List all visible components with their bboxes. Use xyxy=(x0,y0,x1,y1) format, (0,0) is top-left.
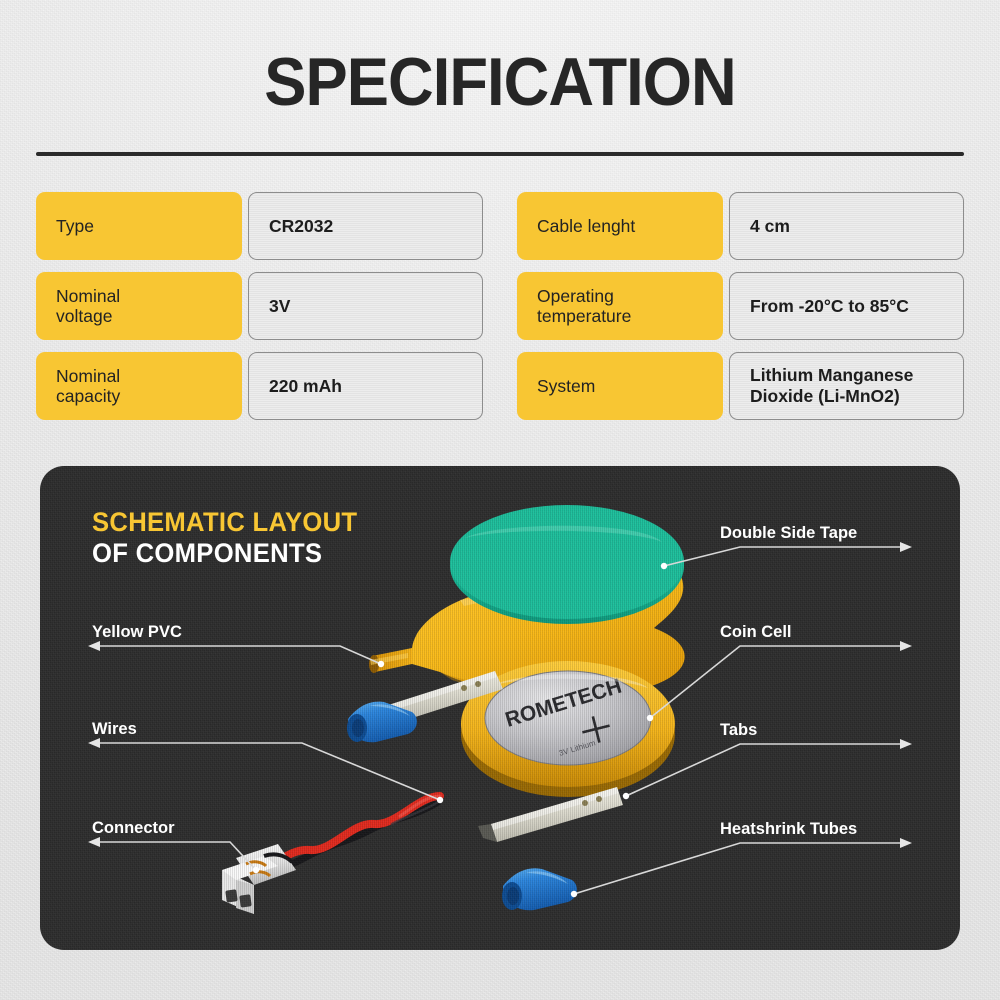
spec-label-text: Type xyxy=(56,216,94,236)
spec-value-cell: 220 mAh xyxy=(248,352,483,420)
title-divider xyxy=(36,152,964,156)
spec-column-left: Type CR2032 Nominalvoltage 3V Nominalcap… xyxy=(36,192,483,420)
schematic-heading: SCHEMATIC LAYOUT OF COMPONENTS xyxy=(92,507,357,569)
spec-label-text: Nominalvoltage xyxy=(56,286,120,326)
spec-row: Type CR2032 xyxy=(36,192,483,260)
spec-row: Nominalvoltage 3V xyxy=(36,272,483,340)
spec-value-text: From -20°C to 85°C xyxy=(750,296,909,317)
spec-value-text: Lithium ManganeseDioxide (Li-MnO2) xyxy=(750,365,913,407)
specification-table: Type CR2032 Nominalvoltage 3V Nominalcap… xyxy=(36,192,964,420)
spec-value-cell: Lithium ManganeseDioxide (Li-MnO2) xyxy=(729,352,964,420)
spec-label-cell: Nominalcapacity xyxy=(36,352,242,420)
callout-label-connector: Connector xyxy=(92,819,175,838)
spec-row: Cable lenght 4 cm xyxy=(517,192,964,260)
callout-label-tabs: Tabs xyxy=(720,721,757,740)
spec-label-text: Cable lenght xyxy=(537,216,635,236)
page-title: SPECIFICATION xyxy=(35,46,965,118)
spec-label-text: Operatingtemperature xyxy=(537,286,631,326)
spec-value-cell: From -20°C to 85°C xyxy=(729,272,964,340)
spec-column-right: Cable lenght 4 cm Operatingtemperature F… xyxy=(517,192,964,420)
spec-row: Nominalcapacity 220 mAh xyxy=(36,352,483,420)
callout-label-wires: Wires xyxy=(92,720,137,739)
spec-value-text: CR2032 xyxy=(269,216,333,237)
spec-label-cell: Operatingtemperature xyxy=(517,272,723,340)
spec-value-text: 3V xyxy=(269,296,290,317)
spec-label-text: System xyxy=(537,376,595,396)
spec-label-cell: Nominalvoltage xyxy=(36,272,242,340)
spec-label-cell: Cable lenght xyxy=(517,192,723,260)
spec-value-cell: CR2032 xyxy=(248,192,483,260)
schematic-panel: ROMETECH 3V Lithium xyxy=(40,466,960,950)
spec-value-cell: 4 cm xyxy=(729,192,964,260)
spec-row: System Lithium ManganeseDioxide (Li-MnO2… xyxy=(517,352,964,420)
spec-value-text: 220 mAh xyxy=(269,376,342,397)
spec-value-text: 4 cm xyxy=(750,216,790,237)
callout-label-coin-cell: Coin Cell xyxy=(720,623,792,642)
spec-row: Operatingtemperature From -20°C to 85°C xyxy=(517,272,964,340)
spec-value-cell: 3V xyxy=(248,272,483,340)
callout-label-double-side-tape: Double Side Tape xyxy=(720,524,857,543)
spec-label-text: Nominalcapacity xyxy=(56,366,120,406)
spec-label-cell: System xyxy=(517,352,723,420)
schematic-heading-line1: SCHEMATIC LAYOUT xyxy=(92,507,357,538)
spec-label-cell: Type xyxy=(36,192,242,260)
callout-label-heatshrink-tubes: Heatshrink Tubes xyxy=(720,820,857,839)
schematic-heading-line2: OF COMPONENTS xyxy=(92,538,357,569)
callout-label-yellow-pvc: Yellow PVC xyxy=(92,623,182,642)
